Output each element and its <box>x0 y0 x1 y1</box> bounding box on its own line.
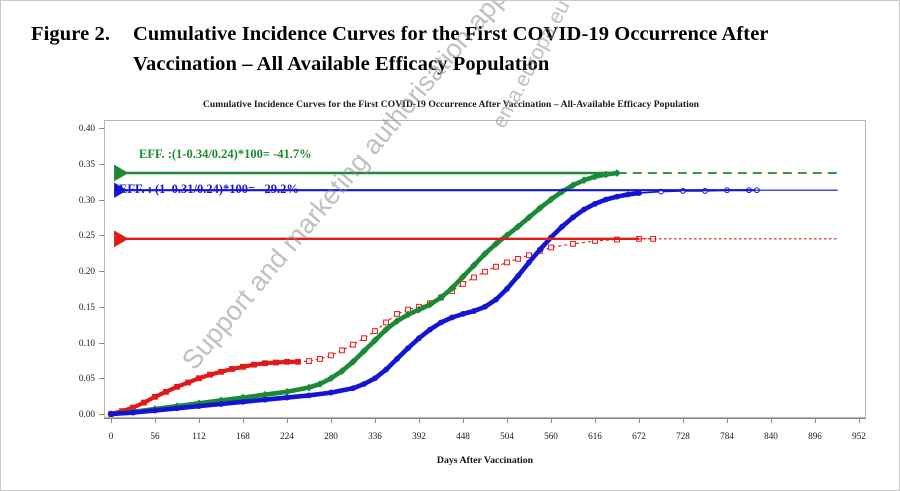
y-tick-label: 0.25 <box>63 230 95 240</box>
x-tick-label: 392 <box>399 431 439 441</box>
x-axis-title: Days After Vaccination <box>104 455 866 466</box>
x-tick-mark <box>155 418 156 423</box>
efficacy-annotation-green: EFF. :(1-0.34/0.24)*100= -41.7% <box>139 147 312 162</box>
y-tick-label: 0.05 <box>63 373 95 383</box>
y-tick-label: 0.35 <box>63 159 95 169</box>
y-tick-label: 0.30 <box>63 195 95 205</box>
plot-area <box>104 120 866 418</box>
x-tick-mark <box>199 418 200 423</box>
x-tick-mark <box>771 418 772 423</box>
x-tick-mark <box>331 418 332 423</box>
efficacy-annotation-blue: EFF. : (1–0.31/0.24)*100= –29.2% <box>119 182 299 197</box>
x-tick-label: 448 <box>443 431 483 441</box>
chart-title: Cumulative Incidence Curves for the Firs… <box>1 99 900 110</box>
chart-panel: Cumulative Incidence Curves for the Firs… <box>1 93 900 491</box>
x-tick-mark <box>419 418 420 423</box>
cumulative-incidence-plot <box>105 121 865 417</box>
x-tick-mark <box>595 418 596 423</box>
x-tick-label: 784 <box>707 431 747 441</box>
x-tick-mark <box>859 418 860 423</box>
y-tick-label: 0.20 <box>63 266 95 276</box>
x-tick-label: 672 <box>619 431 659 441</box>
y-tick-label: 0.10 <box>63 338 95 348</box>
figure-label: Figure 2. <box>31 19 133 49</box>
figure-page: Figure 2.Cumulative Incidence Curves for… <box>0 0 900 491</box>
x-tick-mark <box>243 418 244 423</box>
x-tick-mark <box>375 418 376 423</box>
x-tick-label: 112 <box>179 431 219 441</box>
series-green <box>108 170 620 417</box>
x-tick-label: 896 <box>795 431 835 441</box>
x-tick-label: 0 <box>91 431 131 441</box>
x-tick-label: 56 <box>135 431 175 441</box>
x-tick-label: 728 <box>663 431 703 441</box>
x-tick-mark <box>287 418 288 423</box>
y-tick-label: 0.00 <box>63 409 95 419</box>
x-tick-label: 616 <box>575 431 615 441</box>
x-tick-label: 280 <box>311 431 351 441</box>
x-tick-mark <box>683 418 684 423</box>
x-axis-line <box>104 418 866 419</box>
x-tick-mark <box>507 418 508 423</box>
x-tick-mark <box>727 418 728 423</box>
x-tick-mark <box>639 418 640 423</box>
x-tick-label: 952 <box>839 431 879 441</box>
x-tick-label: 560 <box>531 431 571 441</box>
x-tick-mark <box>463 418 464 423</box>
y-tick-label: 0.15 <box>63 302 95 312</box>
x-tick-mark <box>111 418 112 423</box>
x-tick-label: 336 <box>355 431 395 441</box>
x-tick-mark <box>815 418 816 423</box>
x-tick-label: 504 <box>487 431 527 441</box>
x-tick-mark <box>551 418 552 423</box>
series-red <box>109 236 656 416</box>
x-tick-label: 168 <box>223 431 263 441</box>
y-tick-label: 0.40 <box>63 123 95 133</box>
x-tick-label: 224 <box>267 431 307 441</box>
x-tick-label: 840 <box>751 431 791 441</box>
figure-caption-text: Cumulative Incidence Curves for the Firs… <box>133 19 821 80</box>
figure-caption: Figure 2.Cumulative Incidence Curves for… <box>31 19 831 80</box>
